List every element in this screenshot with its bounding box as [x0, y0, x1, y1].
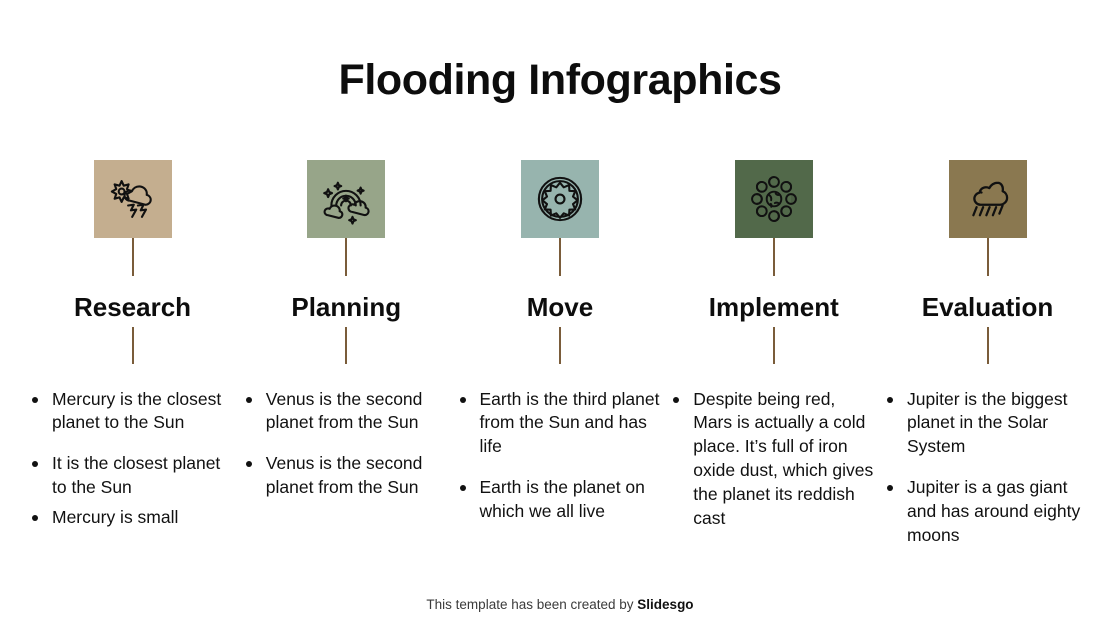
list-item: Jupiter is the biggest planet in the Sol… — [885, 388, 1090, 459]
bullet-list-implement: Despite being red, Mars is actually a co… — [671, 388, 876, 531]
list-item: Jupiter is a gas giant and has around ei… — [885, 476, 1090, 547]
stem-top-research — [132, 238, 134, 276]
footer-brand: Slidesgo — [637, 597, 693, 612]
rain-cloud-icon — [962, 173, 1014, 225]
list-item: Venus is the second planet from the Sun — [244, 388, 449, 436]
infographic-slide: Flooding Infographics Research — [0, 0, 1120, 630]
column-heading-research: Research — [74, 293, 191, 322]
stem-top-move — [559, 238, 561, 276]
stem-top-evaluation — [987, 238, 989, 276]
bullet-list-evaluation: Jupiter is the biggest planet in the Sol… — [885, 388, 1090, 548]
moon-phases-globe-icon — [748, 173, 800, 225]
infographic-columns: Research Mercury is the closest planet t… — [30, 160, 1090, 547]
list-item: Mercury is small — [30, 506, 235, 530]
column-heading-implement: Implement — [709, 293, 839, 322]
bullet-list-research: Mercury is the closest planet to the Sun… — [30, 388, 235, 530]
list-item: It is the closest planet to the Sun — [30, 452, 235, 500]
column-heading-evaluation: Evaluation — [922, 293, 1053, 322]
footer-credit: This template has been created by Slides… — [0, 597, 1120, 612]
infographic-column-evaluation: Evaluation Jupiter is the biggest planet… — [885, 160, 1090, 547]
stem-bottom-implement — [773, 327, 775, 364]
list-item: Venus is the second planet from the Sun — [244, 452, 449, 500]
stem-bottom-evaluation — [987, 327, 989, 364]
globe-gear-icon — [534, 173, 586, 225]
column-heading-move: Move — [527, 293, 593, 322]
infographic-column-planning: Planning Venus is the second planet from… — [244, 160, 449, 500]
stem-top-planning — [345, 238, 347, 276]
infographic-column-move: Move Earth is the third planet from the … — [458, 160, 663, 524]
page-title: Flooding Infographics — [0, 56, 1120, 105]
infographic-column-implement: Implement Despite being red, Mars is act… — [671, 160, 876, 530]
list-item: Earth is the planet on which we all live — [458, 476, 663, 524]
list-item: Earth is the third planet from the Sun a… — [458, 388, 663, 459]
stem-bottom-planning — [345, 327, 347, 364]
list-item: Despite being red, Mars is actually a co… — [671, 388, 876, 531]
footer-text: This template has been created by — [426, 597, 637, 612]
icon-box-implement — [735, 160, 813, 238]
rainbow-clouds-sparkles-icon — [320, 173, 372, 225]
icon-box-evaluation — [949, 160, 1027, 238]
infographic-column-research: Research Mercury is the closest planet t… — [30, 160, 235, 530]
icon-box-move — [521, 160, 599, 238]
bullet-list-planning: Venus is the second planet from the Sun … — [244, 388, 449, 500]
icon-box-planning — [307, 160, 385, 238]
list-item: Mercury is the closest planet to the Sun — [30, 388, 235, 436]
stem-bottom-move — [559, 327, 561, 364]
sun-cloud-lightning-icon — [107, 173, 159, 225]
icon-box-research — [94, 160, 172, 238]
column-heading-planning: Planning — [291, 293, 401, 322]
stem-top-implement — [773, 238, 775, 276]
stem-bottom-research — [132, 327, 134, 364]
bullet-list-move: Earth is the third planet from the Sun a… — [458, 388, 663, 524]
